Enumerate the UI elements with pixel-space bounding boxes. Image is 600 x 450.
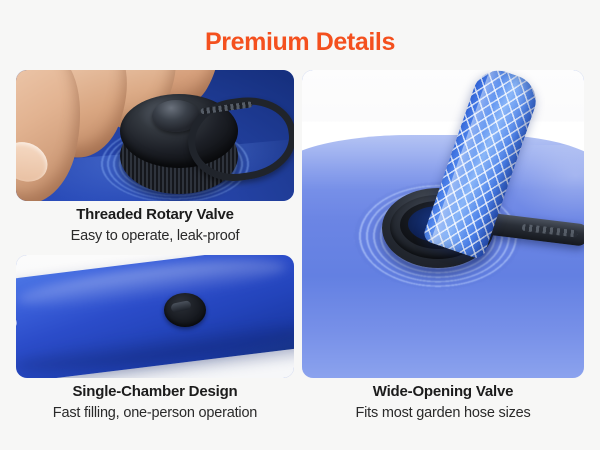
feature-subtext: Easy to operate, leak-proof xyxy=(16,226,294,247)
feature-caption-single-chamber-design: Single-Chamber Design Fast filling, one-… xyxy=(16,382,294,424)
feature-heading: Threaded Rotary Valve xyxy=(16,205,294,225)
feature-subtext: Fast filling, one-person operation xyxy=(16,403,294,424)
feature-image-threaded-rotary-valve xyxy=(16,70,294,201)
bag-valve xyxy=(164,293,206,327)
feature-heading: Wide-Opening Valve xyxy=(302,382,584,402)
bag-brand-text: OR xyxy=(16,281,26,340)
image-content-hose xyxy=(302,70,584,378)
feature-caption-wide-opening-valve: Wide-Opening Valve Fits most garden hose… xyxy=(302,382,584,424)
threaded-cap xyxy=(118,92,244,196)
feature-image-wide-opening-valve xyxy=(302,70,584,378)
feature-heading: Single-Chamber Design xyxy=(16,382,294,402)
image-content-bag: OR xyxy=(16,255,294,378)
feature-subtext: Fits most garden hose sizes xyxy=(302,403,584,424)
page-title: Premium Details xyxy=(0,27,600,57)
product-feature-card: Premium Details Threaded Rotary Valve xyxy=(0,0,600,450)
fingernail-icon xyxy=(16,135,54,189)
feature-image-single-chamber-design: OR xyxy=(16,255,294,378)
feature-caption-threaded-rotary-valve: Threaded Rotary Valve Easy to operate, l… xyxy=(16,205,294,247)
image-content-valve-cap xyxy=(16,70,294,201)
